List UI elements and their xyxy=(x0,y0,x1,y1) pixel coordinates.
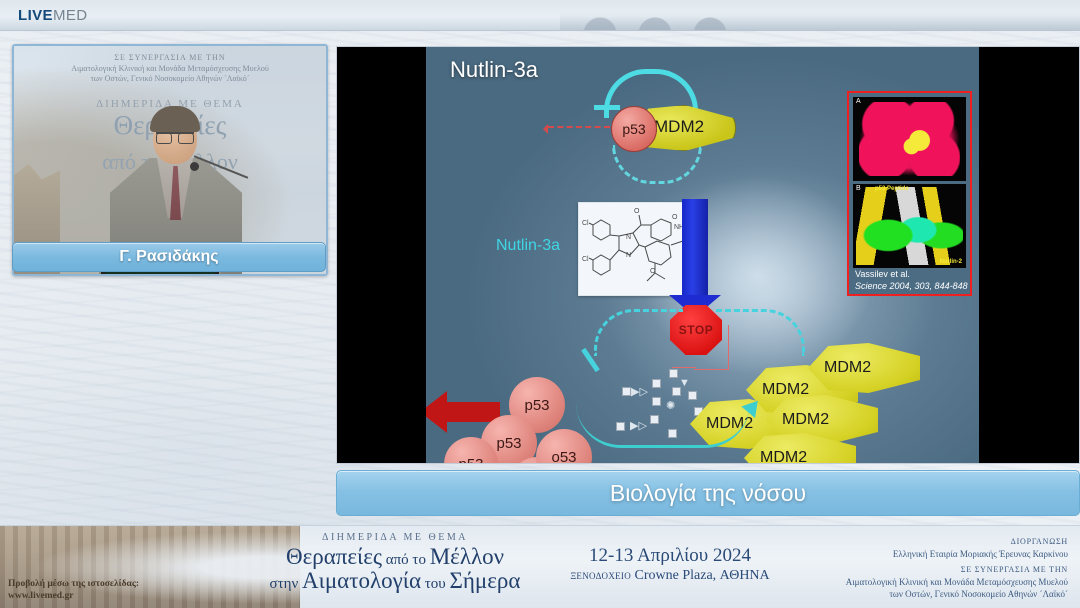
header-arches-decoration xyxy=(560,0,1080,30)
mdm2-cluster-label: MDM2 xyxy=(760,449,807,463)
website-promo-line2: www.livemed.gr xyxy=(8,590,139,602)
livemed-logo[interactable]: LIVEMED xyxy=(18,7,88,24)
footer-venue-name: Crowne Plaza, ΑΘΗΝΑ xyxy=(635,568,770,583)
mdm2-top-label: MDM2 xyxy=(654,117,704,137)
cooperation-body-1: Αιματολογική Κλινική και Μονάδα Μεταμόσχ… xyxy=(846,576,1068,588)
p53-cluster-item: o53 xyxy=(536,429,592,463)
structure-citation: Vassilev et al. Science 2004, 303, 844-8… xyxy=(855,268,968,292)
website-promo-line1: Προβολή μέσω της ιστοσελίδας: xyxy=(8,578,139,590)
footer-organizers: ΔΙΟΡΓΑΝΩΣΗ Ελληνική Εταιρία Μοριακής Έρε… xyxy=(846,536,1068,600)
mdm2-cluster-label: MDM2 xyxy=(762,381,809,399)
footer-date-venue: 12-13 Απριλίου 2024 ΞΕΝΟΔΟΧΕΙΟ Crowne Pl… xyxy=(555,545,785,584)
footer-event-line2-d: Σήμερα xyxy=(450,568,521,593)
organizer-body: Ελληνική Εταιρία Μοριακής Έρευνας Καρκίν… xyxy=(846,548,1068,560)
structure-b-label: B xyxy=(856,185,861,192)
red-dashed-arrow xyxy=(548,126,610,128)
protein-structure-panel: A B p53 Peptide Nutlin-2 Vassilev et al.… xyxy=(847,91,972,296)
footer-venue-prefix: ΞΕΝΟΔΟΧΕΙΟ xyxy=(570,571,631,581)
speaker-name-bar[interactable]: Γ. Ρασιδάκης xyxy=(12,242,326,272)
footer-event-line2-c: του xyxy=(421,576,449,592)
binding-dashed-arc xyxy=(612,145,702,184)
speaker-glasses xyxy=(156,132,194,143)
organizer-heading: ΔΙΟΡΓΑΝΩΣΗ xyxy=(846,536,1068,548)
svg-text:O: O xyxy=(634,208,640,215)
mdm2-cluster-label: MDM2 xyxy=(782,411,829,429)
footer-event-line2-b: Αιματολογία xyxy=(302,568,421,593)
footer-event-subtitle: ΔΙΗΜΕΡΙΔΑ ΜΕ ΘΕΜΑ xyxy=(255,532,535,543)
footer-event-line1-a: Θεραπείες xyxy=(286,544,382,569)
cyan-feedback-arrow xyxy=(576,403,750,448)
svg-text:N: N xyxy=(626,234,631,241)
red-output-arrow xyxy=(446,402,500,422)
slide-title: Nutlin-3a xyxy=(450,57,538,83)
footer-event-line1: Θεραπείες από το Μέλλον xyxy=(255,544,535,570)
top-header-bar: LIVEMED xyxy=(0,0,1080,31)
svg-text:Cl: Cl xyxy=(582,256,589,263)
website-promo[interactable]: Προβολή μέσω της ιστοσελίδας: www.liveme… xyxy=(8,578,139,602)
left-dashed-inhibition xyxy=(594,309,683,356)
svg-text:O: O xyxy=(672,214,678,221)
blue-down-arrow xyxy=(682,199,708,295)
svg-text:Cl: Cl xyxy=(582,220,589,227)
structure-panel-b: B p53 Peptide Nutlin-2 xyxy=(853,184,966,268)
structure-panel-a: A xyxy=(853,97,966,181)
citation-line-2: Science 2004, 303, 844-848 xyxy=(855,281,968,291)
nutlin-label: Nutlin-3a xyxy=(496,237,560,255)
speaker-name-label: Γ. Ρασιδάκης xyxy=(119,248,218,266)
nutlin2-ligand-label: Nutlin-2 xyxy=(940,259,962,265)
p53-top-label: p53 xyxy=(622,121,645,137)
footer-event-line1-b: από το xyxy=(382,552,430,568)
microphone-head-icon xyxy=(190,162,199,171)
page-root: LIVEMED ΣΕ ΣΥΝΕΡΓΑΣΙΑ ΜΕ ΤΗΝ Αιματολογικ… xyxy=(0,0,1080,608)
footer-event-line2-a: στην xyxy=(270,576,303,592)
slide-canvas: Nutlin-3a MDM2 p53 xyxy=(426,47,979,463)
structure-a-label: A xyxy=(856,98,861,105)
footer-date: 12-13 Απριλίου 2024 xyxy=(555,545,785,567)
slide-viewport[interactable]: Nutlin-3a MDM2 p53 xyxy=(336,46,1080,464)
mdm2-cluster-label: MDM2 xyxy=(824,359,871,377)
nutlin-chemical-structure-icon: ClCl OO NHN NO O xyxy=(579,203,699,295)
cooperation-body-2: των Οστών, Γενικό Νοσοκομείο Αθηνών ´Λαϊ… xyxy=(846,588,1068,600)
footer-event-title: ΔΙΗΜΕΡΙΔΑ ΜΕ ΘΕΜΑ Θεραπείες από το Μέλλο… xyxy=(255,532,535,594)
logo-med-text: MED xyxy=(53,7,88,24)
p53-top-shape: p53 xyxy=(611,106,657,152)
stop-connector-line-2 xyxy=(672,367,696,368)
citation-line-1: Vassilev et al. xyxy=(855,268,968,280)
p53-peptide-label: p53 Peptide xyxy=(875,186,909,192)
cooperation-heading: ΣΕ ΣΥΝΕΡΓΑΣΙΑ ΜΕ ΤΗΝ xyxy=(846,564,1068,576)
slide-caption-bar[interactable]: Βιολογία της νόσου xyxy=(336,470,1080,516)
degraded-fragment xyxy=(622,387,631,396)
right-dashed-path xyxy=(716,309,805,356)
svg-text:N: N xyxy=(626,252,631,259)
footer-event-line1-c: Μέλλον xyxy=(430,544,504,569)
backdrop-line-1: ΣΕ ΣΥΝΕΡΓΑΣΙΑ ΜΕ ΤΗΝ xyxy=(14,53,326,62)
degraded-glyph: ▼ xyxy=(679,377,690,389)
svg-text:O: O xyxy=(650,268,656,275)
mdm2-cluster-item: MDM2 xyxy=(808,343,920,393)
degraded-fragment xyxy=(652,379,661,388)
degraded-fragment xyxy=(669,369,678,378)
inhibition-arc-cap xyxy=(594,105,620,110)
backdrop-line-2: Αιματολογική Κλινική και Μονάδα Μεταμόσχ… xyxy=(14,64,326,73)
footer-venue: ΞΕΝΟΔΟΧΕΙΟ Crowne Plaza, ΑΘΗΝΑ xyxy=(555,568,785,584)
logo-live-text: LIVE xyxy=(18,7,53,24)
slide-caption-label: Βιολογία της νόσου xyxy=(610,480,806,507)
backdrop-line-3: των Οστών, Γενικό Νοσοκομείο Αθηνών ´Λαϊ… xyxy=(14,74,326,83)
degraded-fragment xyxy=(688,391,697,400)
footer-event-line2: στην Αιματολογία του Σήμερα xyxy=(255,568,535,594)
degraded-glyph: ▶▷ xyxy=(631,385,648,398)
